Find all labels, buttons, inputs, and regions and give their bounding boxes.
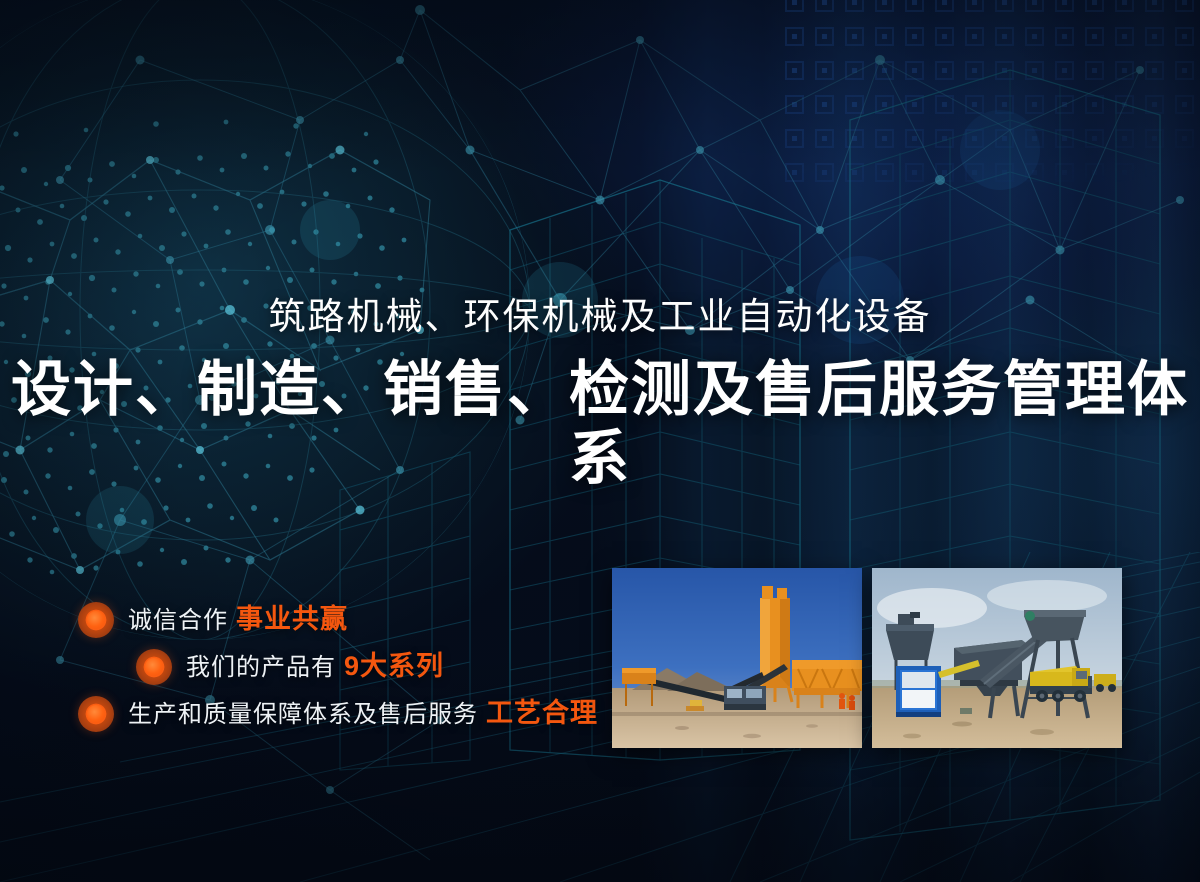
bullet-dot-icon (136, 649, 172, 685)
bullet-label: 诚信合作 (128, 607, 228, 634)
bullet-dot-icon (78, 602, 114, 638)
promo-banner: 筑路机械、环保机械及工业自动化设备 设计、制造、销售、检测及售后服务管理体系 诚… (0, 0, 1200, 882)
bullet-accent: 工艺合理 (486, 698, 598, 728)
bullet-label: 生产和质量保障体系及售后服务 (128, 701, 478, 728)
banner-title: 设计、制造、销售、检测及售后服务管理体系 (0, 355, 1200, 493)
banner-subtitle: 筑路机械、环保机械及工业自动化设备 (0, 295, 1200, 339)
bullet-text: 我们的产品有9大系列 (186, 653, 444, 680)
bullet-text: 生产和质量保障体系及售后服务工艺合理 (128, 700, 598, 727)
feature-bullet-list: 诚信合作事业共赢 我们的产品有9大系列 生产和质量保障体系及售后服务工艺合理 (78, 596, 598, 737)
list-item: 我们的产品有9大系列 (136, 643, 598, 690)
list-item: 生产和质量保障体系及售后服务工艺合理 (78, 690, 598, 737)
mobile-mixing-plant-photo (872, 568, 1122, 748)
concrete-batching-plant-photo (612, 568, 862, 748)
bullet-text: 诚信合作事业共赢 (128, 606, 348, 633)
headline-block: 筑路机械、环保机械及工业自动化设备 设计、制造、销售、检测及售后服务管理体系 (0, 295, 1200, 493)
list-item: 诚信合作事业共赢 (78, 596, 598, 643)
bullet-label: 我们的产品有 (186, 654, 336, 681)
bullet-accent: 9大系列 (344, 651, 444, 681)
bullet-accent: 事业共赢 (236, 604, 348, 634)
bullet-dot-icon (78, 696, 114, 732)
